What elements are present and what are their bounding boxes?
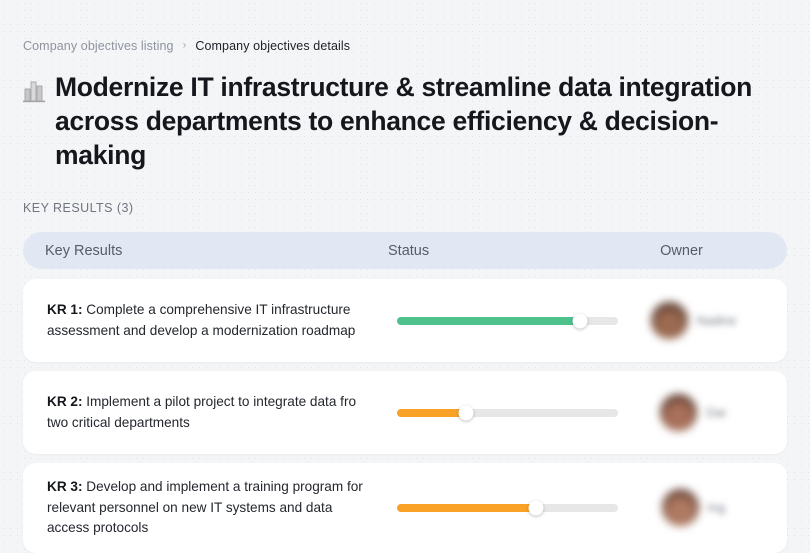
progress-thumb[interactable] (529, 500, 544, 515)
owner-name: Ing (708, 501, 725, 515)
page-title: Modernize IT infrastructure & streamline… (55, 70, 787, 172)
key-result-tag: KR 3: (47, 479, 83, 494)
progress-fill (397, 504, 536, 512)
key-result-tag: KR 1: (47, 302, 83, 317)
owner-cell: Nadine (638, 302, 787, 339)
progress-thumb[interactable] (458, 405, 473, 420)
key-result-tag: KR 2: (47, 394, 83, 409)
owner-cell: Dar (638, 394, 787, 431)
status-cell (388, 409, 638, 417)
objective-details-page: Company objectives listing › Company obj… (0, 0, 810, 546)
column-header-owner: Owner (638, 243, 787, 259)
owner-name: Nadine (697, 314, 737, 328)
table-row[interactable]: KR 2: Implement a pilot project to integ… (23, 371, 787, 454)
owner-name: Dar (706, 406, 726, 420)
breadcrumb-current: Company objectives details (195, 38, 350, 54)
avatar[interactable] (660, 394, 697, 431)
table-row[interactable]: KR 3: Develop and implement a training p… (23, 463, 787, 553)
progress-slider[interactable] (397, 317, 618, 325)
progress-fill (397, 409, 466, 417)
key-results-list: KR 1: Complete a comprehensive IT infras… (23, 279, 787, 553)
progress-slider[interactable] (397, 504, 618, 512)
table-header-row: Key Results Status Owner (23, 232, 787, 269)
breadcrumb-parent-link[interactable]: Company objectives listing (23, 38, 174, 54)
avatar[interactable] (662, 489, 699, 526)
key-result-description: Develop and implement a training program… (47, 479, 363, 535)
objective-title-block: Modernize IT infrastructure & streamline… (23, 70, 787, 172)
key-result-text: KR 2: Implement a pilot project to integ… (23, 378, 388, 447)
progress-fill (397, 317, 580, 325)
avatar[interactable] (651, 302, 688, 339)
column-header-key-results: Key Results (23, 243, 388, 259)
status-cell (388, 317, 638, 325)
breadcrumb: Company objectives listing › Company obj… (23, 0, 787, 54)
owner-cell: Ing (638, 489, 787, 526)
column-header-status: Status (388, 243, 638, 259)
progress-thumb[interactable] (573, 313, 588, 328)
table-row[interactable]: KR 1: Complete a comprehensive IT infras… (23, 279, 787, 362)
progress-slider[interactable] (397, 409, 618, 417)
cityscape-icon (23, 78, 45, 104)
status-cell (388, 504, 638, 512)
key-result-text: KR 3: Develop and implement a training p… (23, 463, 388, 553)
key-result-text: KR 1: Complete a comprehensive IT infras… (23, 286, 388, 355)
chevron-right-icon: › (183, 38, 187, 54)
key-result-description: Complete a comprehensive IT infrastructu… (47, 302, 355, 338)
key-result-description: Implement a pilot project to integrate d… (47, 394, 356, 430)
key-results-section-label: KEY RESULTS (3) (23, 201, 787, 215)
